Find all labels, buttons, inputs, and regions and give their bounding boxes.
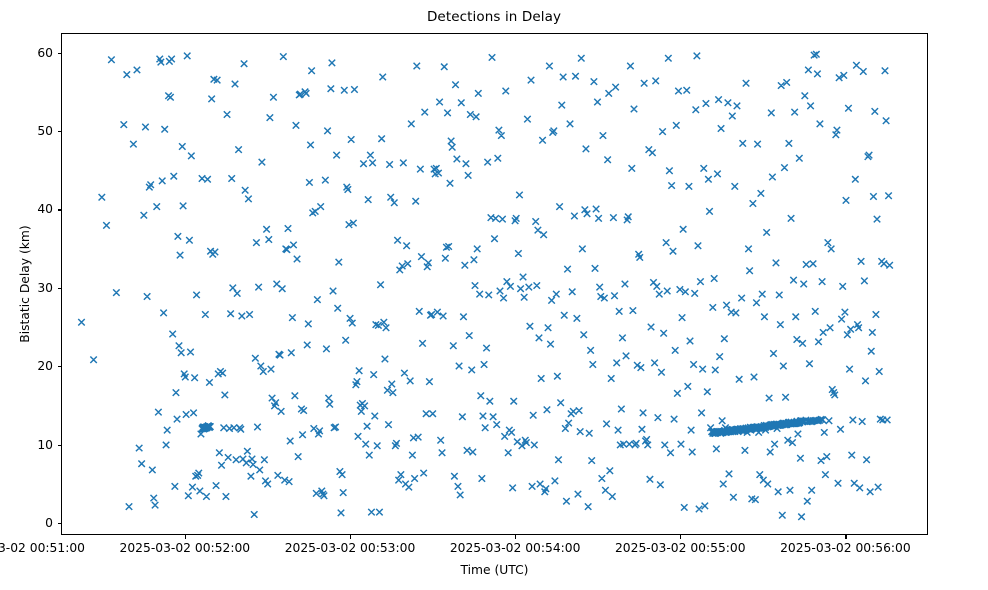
x-tick-mark [845, 535, 846, 539]
plot-area[interactable] [61, 33, 928, 535]
scatter-series[interactable] [62, 34, 927, 534]
x-tick-mark [515, 535, 516, 539]
x-tick-mark [350, 535, 351, 539]
y-axis-label: Bistatic Delay (km) [18, 33, 36, 535]
x-tick-mark [680, 535, 681, 539]
page-title: Detections in Delay [0, 9, 988, 25]
figure-canvas: Detections in Delay 0102030405060 Bistat… [0, 0, 988, 590]
x-axis-label: Time (UTC) [61, 563, 928, 577]
x-tick-label: 2025-03-02 00:56:00 [745, 541, 945, 555]
x-tick-mark [185, 535, 186, 539]
